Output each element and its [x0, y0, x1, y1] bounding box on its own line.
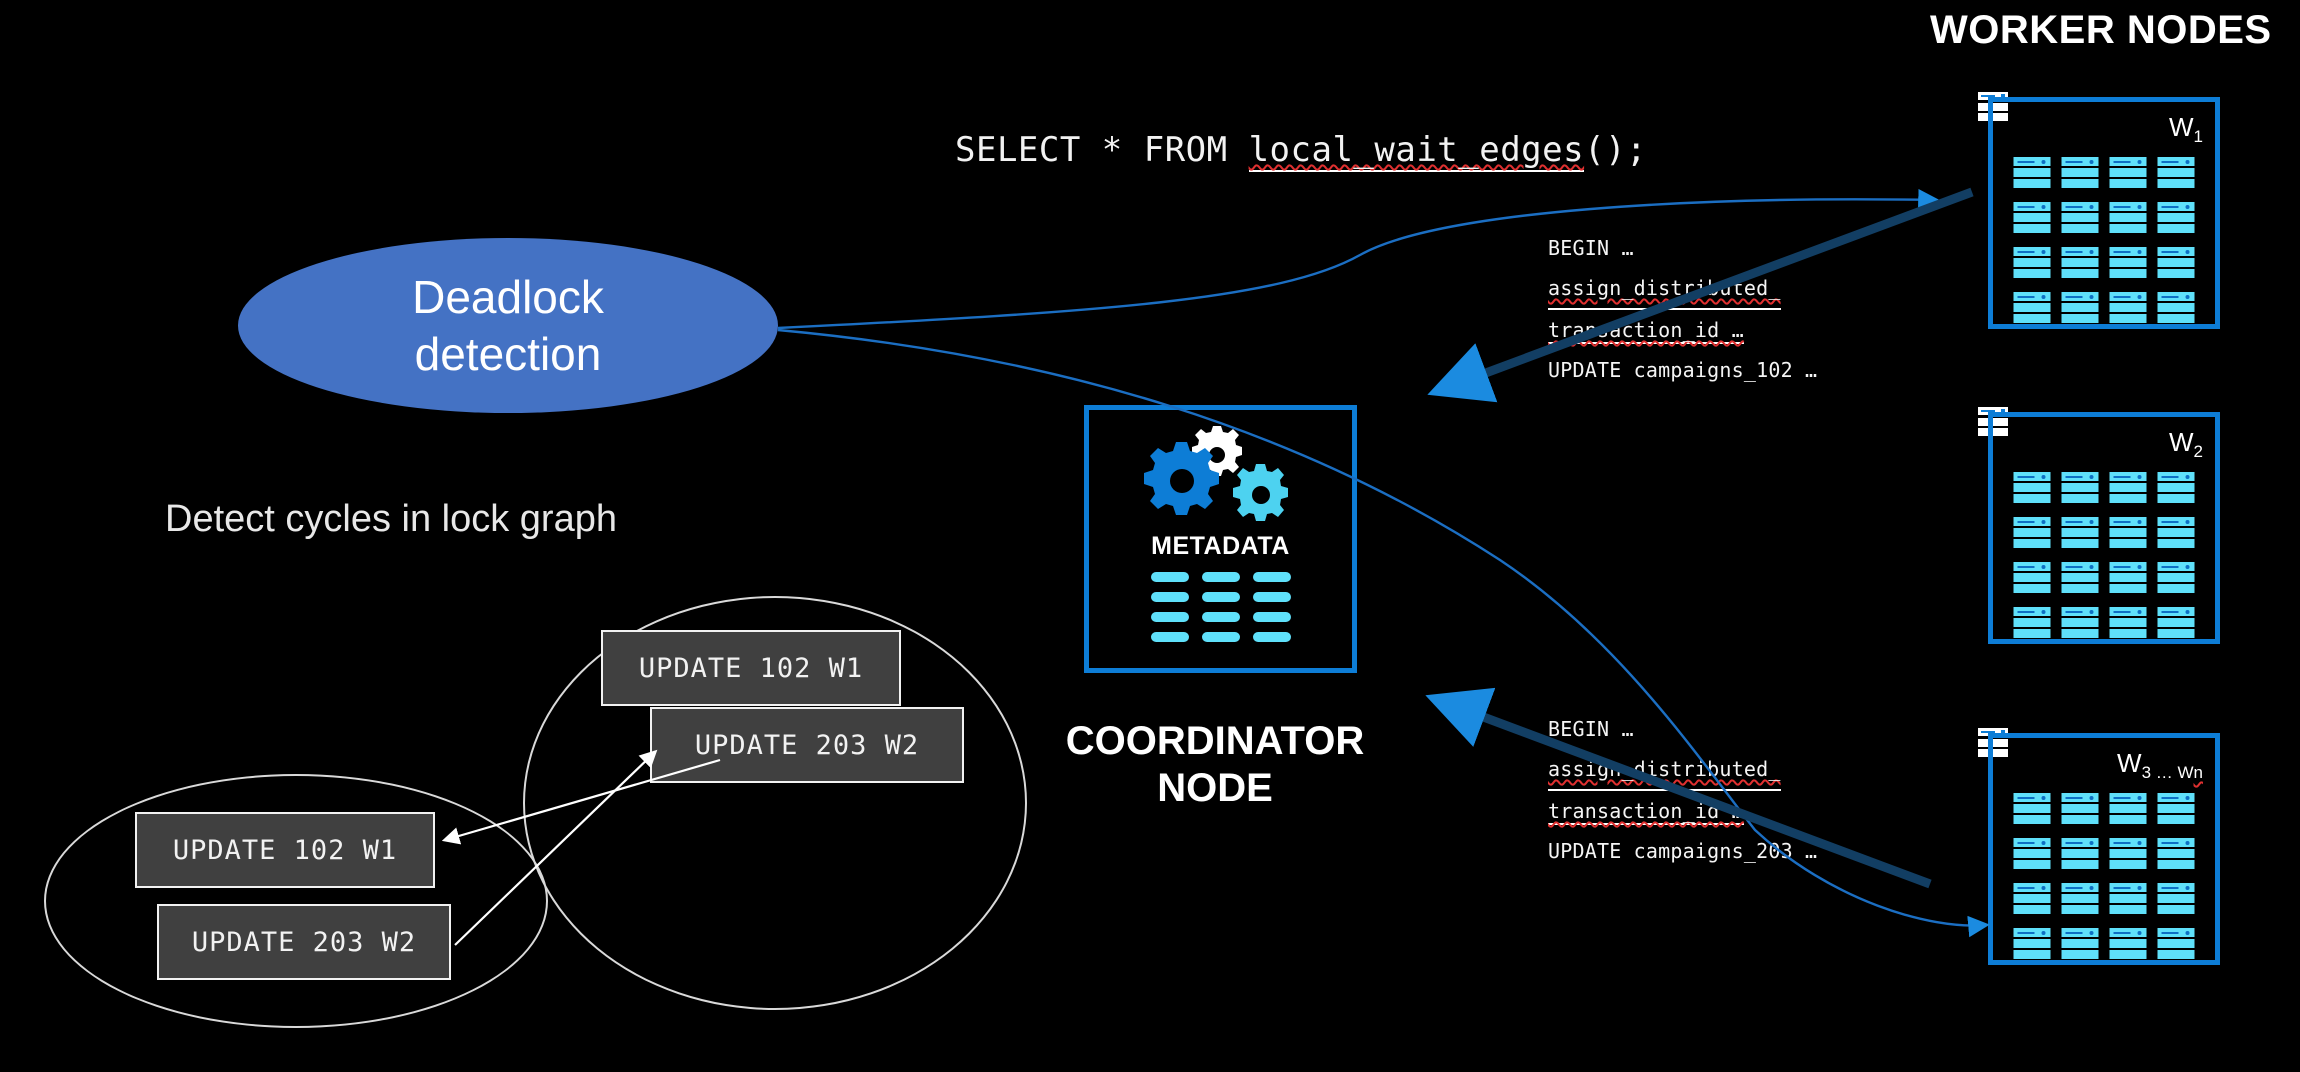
metadata-bar [1202, 572, 1240, 582]
lock-box-upper-1: UPDATE 102 W1 [601, 630, 901, 706]
server-unit [2158, 883, 2195, 916]
server-unit-grid [2014, 793, 2195, 961]
lock-box-label: UPDATE 102 W1 [173, 835, 397, 866]
lock-box-upper-2: UPDATE 203 W2 [650, 707, 964, 783]
sql-function-name: local_wait_edges [1249, 130, 1585, 172]
server-unit [2062, 883, 2099, 916]
server-unit [2158, 607, 2195, 640]
lock-box-label: UPDATE 203 W2 [192, 927, 416, 958]
txn-line-update: UPDATE campaigns_102 … [1548, 350, 1817, 390]
server-unit [2062, 202, 2099, 235]
server-unit [2158, 793, 2195, 826]
server-unit [2110, 202, 2147, 235]
server-unit [2014, 928, 2051, 961]
server-unit [2110, 838, 2147, 871]
server-unit [2014, 838, 2051, 871]
worker-label-3: W3 … Wn [2117, 748, 2203, 783]
server-unit [2110, 883, 2147, 916]
server-unit [2014, 202, 2051, 235]
server-unit [2110, 247, 2147, 280]
worker-node-2: W2 [1988, 412, 2220, 644]
txn-line-assign: assign_distributed_ [1548, 268, 1781, 310]
server-unit [2158, 562, 2195, 595]
coordinator-node-title: COORDINATOR NODE [1060, 718, 1370, 812]
server-unit [2062, 838, 2099, 871]
txn-line-assign: assign_distributed_ [1548, 749, 1781, 791]
gear-blue-icon [1144, 442, 1219, 515]
metadata-label: METADATA [1089, 532, 1352, 561]
server-unit [2062, 607, 2099, 640]
server-unit [2158, 517, 2195, 550]
metadata-bar [1253, 572, 1291, 582]
detect-cycles-caption: Detect cycles in lock graph [165, 498, 617, 541]
server-unit [2110, 793, 2147, 826]
server-unit [2110, 607, 2147, 640]
server-unit [2110, 928, 2147, 961]
lock-box-lower-1: UPDATE 102 W1 [135, 812, 435, 888]
server-unit [2062, 793, 2099, 826]
server-unit [2158, 202, 2195, 235]
txn-line-txnid: transaction_id … [1548, 318, 1744, 344]
server-unit [2158, 157, 2195, 190]
server-unit [2062, 292, 2099, 325]
server-unit [2158, 247, 2195, 280]
server-unit [2014, 562, 2051, 595]
metadata-bar [1253, 612, 1291, 622]
server-unit [2014, 157, 2051, 190]
server-unit [2062, 247, 2099, 280]
txn-line-begin: BEGIN … [1548, 709, 1817, 749]
worker-nodes-title: WORKER NODES [1930, 8, 2272, 53]
server-unit [2014, 292, 2051, 325]
server-unit [2158, 472, 2195, 505]
lock-box-lower-2: UPDATE 203 W2 [157, 904, 451, 980]
sql-suffix: (); [1584, 130, 1647, 170]
worker-label-1: W1 [2169, 112, 2203, 147]
gear-cyan-icon [1233, 464, 1288, 521]
worker-label-2: W2 [2169, 427, 2203, 462]
deadlock-title-line1: Deadlock [412, 269, 604, 325]
server-unit [2110, 472, 2147, 505]
server-unit [2110, 157, 2147, 190]
server-unit [2158, 928, 2195, 961]
server-unit [2014, 883, 2051, 916]
server-unit [2014, 517, 2051, 550]
worker-node-3: W3 … Wn [1988, 733, 2220, 965]
server-unit [2062, 517, 2099, 550]
server-unit [2014, 472, 2051, 505]
metadata-bar [1151, 612, 1189, 622]
metadata-bar [1202, 592, 1240, 602]
server-unit [2110, 292, 2147, 325]
server-unit [2062, 157, 2099, 190]
server-unit [2014, 607, 2051, 640]
txn-line-begin: BEGIN … [1548, 228, 1817, 268]
server-unit [2158, 292, 2195, 325]
metadata-bar [1151, 632, 1189, 642]
server-unit [2110, 562, 2147, 595]
gears-icon-group [1144, 425, 1304, 530]
diagram-canvas: WORKER NODES SELECT * FROM local_wait_ed… [0, 0, 2300, 1072]
deadlock-detection-ellipse: Deadlock detection [238, 238, 778, 413]
server-unit [2062, 928, 2099, 961]
metadata-bar [1253, 592, 1291, 602]
coordinator-metadata-box: METADATA [1084, 405, 1357, 673]
server-unit-grid [2014, 472, 2195, 640]
metadata-bar [1202, 612, 1240, 622]
metadata-bar [1202, 632, 1240, 642]
lock-box-label: UPDATE 203 W2 [695, 730, 919, 761]
sql-prefix: SELECT * FROM [955, 130, 1249, 170]
metadata-bar [1253, 632, 1291, 642]
metadata-bar [1151, 572, 1189, 582]
worker-node-1: W1 [1988, 97, 2220, 329]
server-unit [2014, 247, 2051, 280]
server-unit [2062, 472, 2099, 505]
deadlock-title-line2: detection [412, 326, 604, 382]
server-unit-grid [2014, 157, 2195, 325]
metadata-bar-grid [1151, 572, 1291, 642]
server-unit [2014, 793, 2051, 826]
txn-line-update: UPDATE campaigns_203 … [1548, 831, 1817, 871]
lock-box-label: UPDATE 102 W1 [639, 653, 863, 684]
txn-line-txnid: transaction_id … [1548, 799, 1744, 825]
transaction-block-2: BEGIN … assign_distributed_ transaction_… [1548, 709, 1817, 871]
server-unit [2110, 517, 2147, 550]
transaction-block-1: BEGIN … assign_distributed_ transaction_… [1548, 228, 1817, 390]
server-unit [2062, 562, 2099, 595]
sql-query-line: SELECT * FROM local_wait_edges(); [955, 130, 1647, 170]
metadata-bar [1151, 592, 1189, 602]
server-unit [2158, 838, 2195, 871]
